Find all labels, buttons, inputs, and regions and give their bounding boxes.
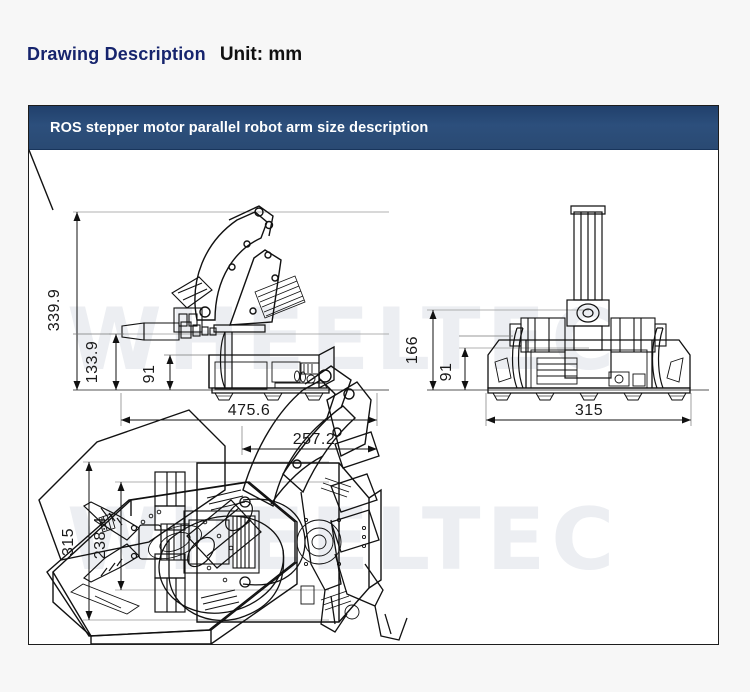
technical-drawing: 339.9 133.9 91 475.6 257.2 [29,150,718,645]
chassis-feet [215,393,323,400]
dim-339-9: 339.9 [46,289,63,332]
page-title-row: Drawing Description Unit: mm [27,44,302,66]
drawing-card: ROS stepper motor parallel robot arm siz… [28,105,719,645]
iso-chassis [47,482,295,636]
page-title: Drawing Description [27,44,206,65]
rear-feet [493,393,686,400]
dim-166: 166 [404,336,421,364]
dim-133-9: 133.9 [84,341,101,384]
card-banner-title: ROS stepper motor parallel robot arm siz… [50,120,428,136]
dim-91-side: 91 [141,365,158,384]
dim-91-rear: 91 [438,363,455,382]
unit-label: Unit: mm [220,44,302,66]
view-isometric [29,150,407,644]
view-side-elevation: 339.9 133.9 91 475.6 257.2 [46,206,389,455]
card-banner: ROS stepper motor parallel robot arm siz… [29,106,718,150]
view-rear-elevation: 166 91 315 [404,206,709,426]
dim-475-6: 475.6 [228,402,271,419]
drawing-canvas: WHEELTEC WHEELTEC [29,150,718,645]
dim-315-rear: 315 [575,402,603,419]
